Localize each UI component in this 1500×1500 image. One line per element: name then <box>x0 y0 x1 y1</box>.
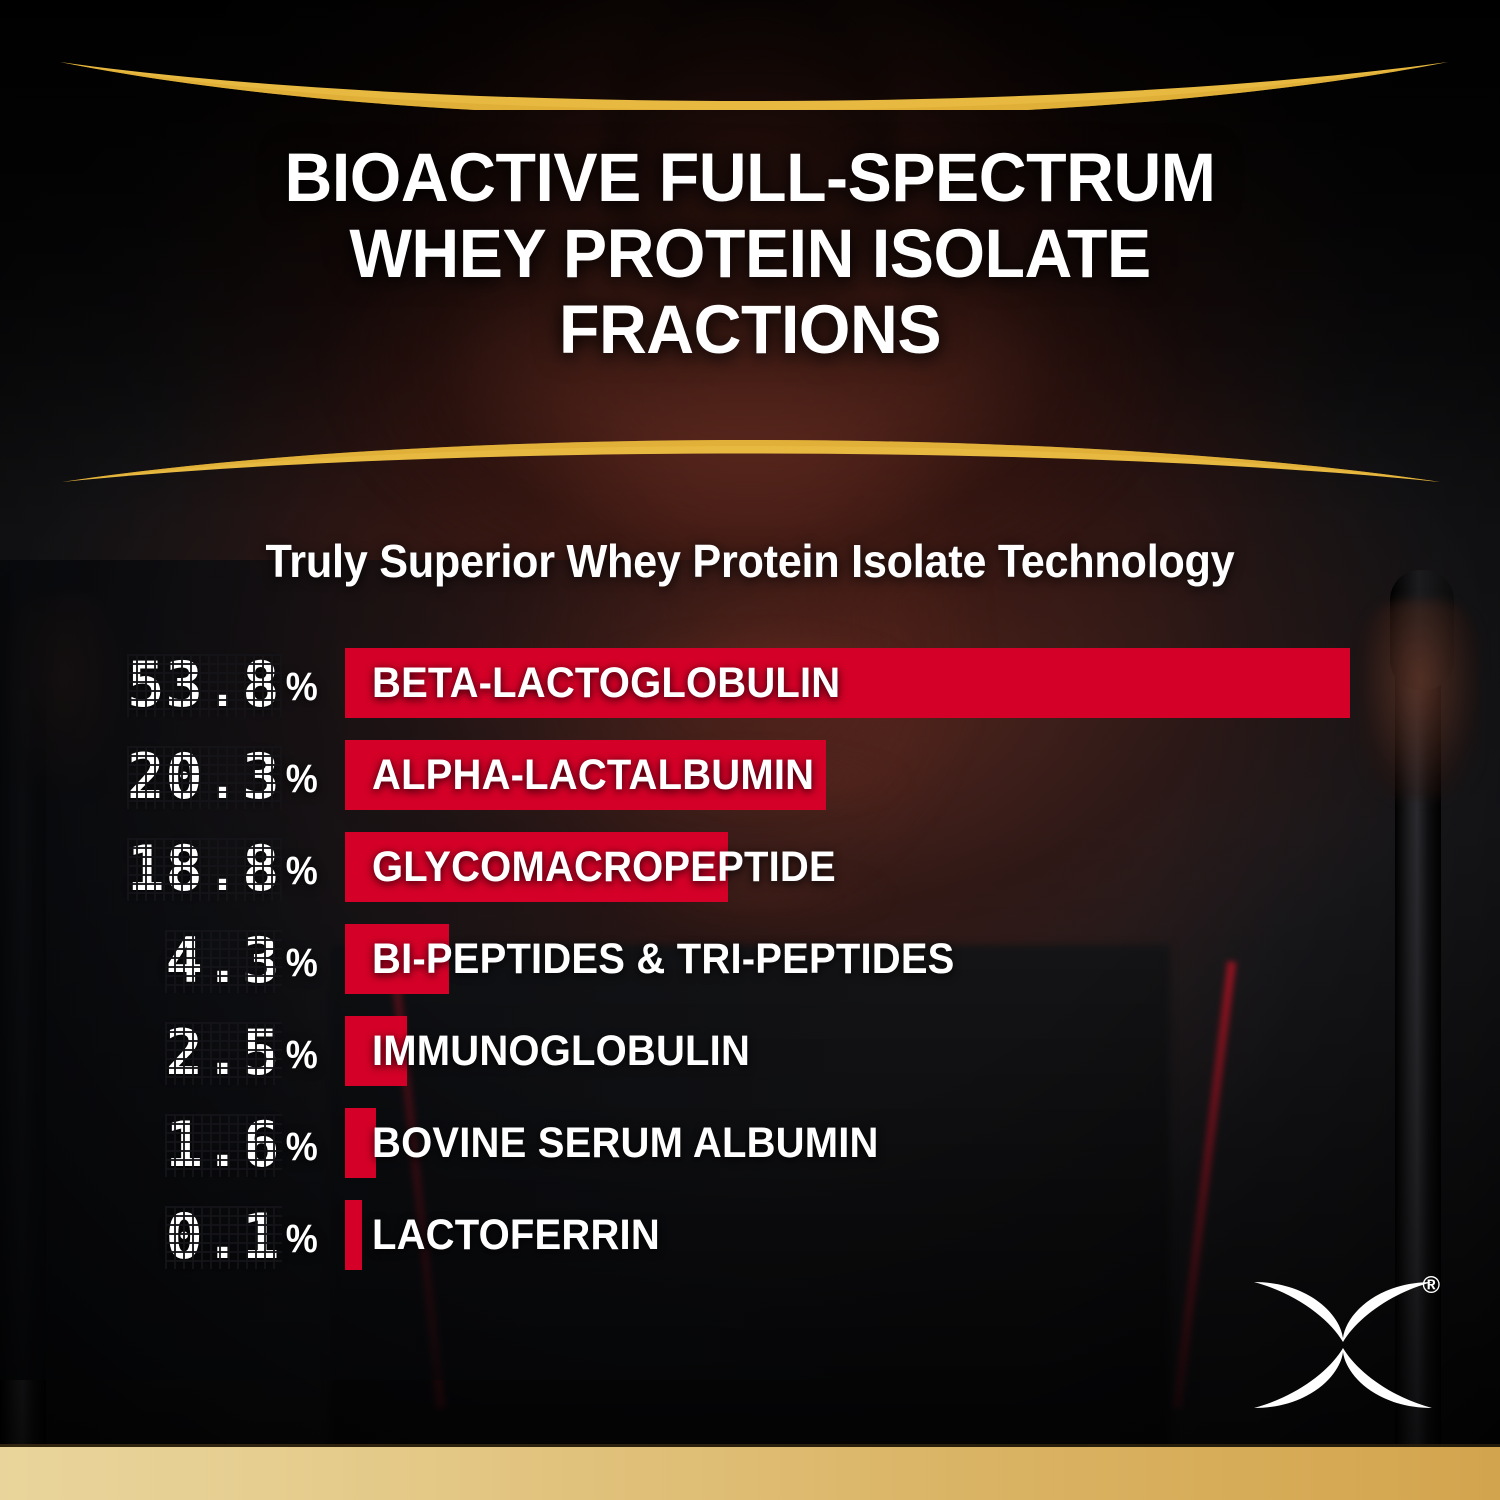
row-percentage: 20.3% <box>0 746 320 809</box>
row-percentage: 18.8% <box>0 838 320 901</box>
row-percentage: 1.6% <box>0 1114 320 1177</box>
brand-logo: ® <box>1248 1268 1438 1418</box>
gold-swoosh-top-icon <box>0 40 1500 110</box>
chart-row: 2.5% IMMUNOGLOBULIN <box>0 1016 1500 1108</box>
row-percentage: 53.8% <box>0 654 320 717</box>
chart-row: 18.8% GLYCOMACROPEPTIDE <box>0 832 1500 924</box>
subtitle: Truly Superior Whey Protein Isolate Tech… <box>45 534 1455 588</box>
row-label: IMMUNOGLOBULIN <box>372 1016 750 1086</box>
chart-row: 53.8% BETA-LACTOGLOBULIN <box>0 648 1500 740</box>
row-label: BI-PEPTIDES & TRI-PEPTIDES <box>372 924 955 994</box>
row-label: ALPHA-LACTALBUMIN <box>372 740 814 810</box>
gold-swoosh-bottom-icon <box>0 430 1500 500</box>
row-bar <box>345 1200 362 1270</box>
chart-row: 4.3% BI-PEPTIDES & TRI-PEPTIDES <box>0 924 1500 1016</box>
row-label: LACTOFERRIN <box>372 1200 660 1270</box>
row-label: BETA-LACTOGLOBULIN <box>372 648 840 718</box>
registered-trademark-icon: ® <box>1422 1274 1440 1298</box>
whey-fractions-bar-chart: 53.8% BETA-LACTOGLOBULIN 20.3% ALPHA-LAC… <box>0 648 1500 1292</box>
row-percentage: 0.1% <box>0 1206 320 1269</box>
chart-row: 20.3% ALPHA-LACTALBUMIN <box>0 740 1500 832</box>
product-infographic: BIOACTIVE FULL-SPECTRUM WHEY PROTEIN ISO… <box>0 0 1500 1500</box>
row-percentage: 4.3% <box>0 930 320 993</box>
row-percentage: 2.5% <box>0 1022 320 1085</box>
x-logo-icon <box>1248 1268 1438 1418</box>
row-label: GLYCOMACROPEPTIDE <box>372 832 836 902</box>
row-label: BOVINE SERUM ALBUMIN <box>372 1108 879 1178</box>
page-title: BIOACTIVE FULL-SPECTRUM WHEY PROTEIN ISO… <box>30 140 1470 368</box>
chart-row: 1.6% BOVINE SERUM ALBUMIN <box>0 1108 1500 1200</box>
bottom-gold-band <box>0 1447 1500 1500</box>
